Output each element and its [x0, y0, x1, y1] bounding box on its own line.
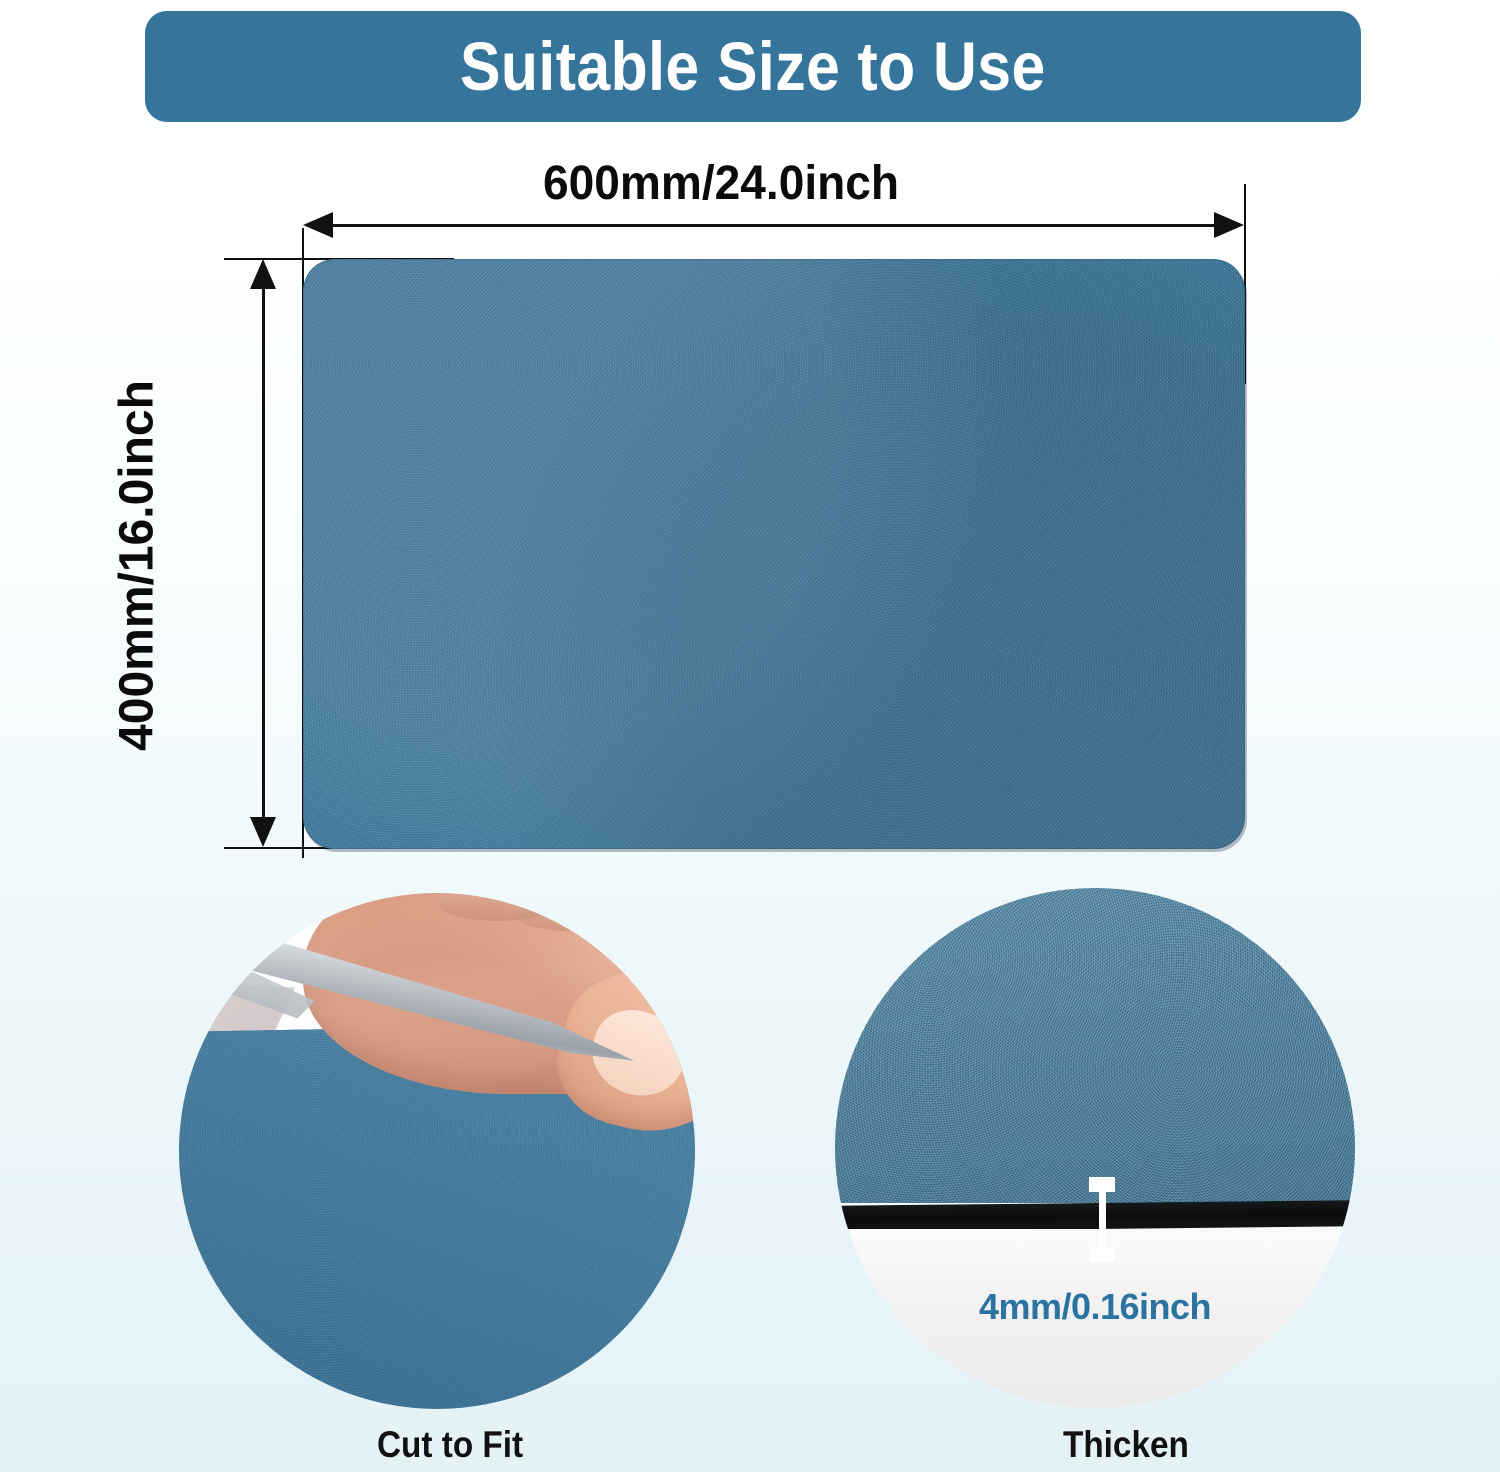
thickness-caliper-icon — [1089, 1177, 1115, 1263]
feature-photo-thicken: 4mm/0.16inch — [835, 888, 1355, 1408]
height-dimension-line — [262, 272, 265, 834]
page-title: Suitable Size to Use — [460, 27, 1046, 106]
arrow-up-icon — [250, 259, 276, 289]
caption-cut-to-fit: Cut to Fit — [377, 1424, 523, 1466]
width-label: 600mm/24.0inch — [543, 156, 899, 211]
finger-crease — [582, 896, 689, 936]
infographic-canvas: Suitable Size to Use 600mm/24.0inch 400m… — [0, 0, 1500, 1472]
width-dimension-line — [316, 224, 1236, 227]
product-mat-illustration — [303, 259, 1245, 849]
thickness-label: 4mm/0.16inch — [835, 1286, 1355, 1328]
mat-top-surface — [835, 888, 1355, 1203]
arrow-down-icon — [250, 817, 276, 847]
height-label: 400mm/16.0inch — [110, 306, 165, 826]
arrow-left-icon — [303, 212, 333, 238]
caliper-bottom-cap — [1089, 1247, 1115, 1262]
caption-thicken: Thicken — [1063, 1424, 1189, 1466]
feature-photo-cut-to-fit — [179, 893, 695, 1409]
arrow-right-icon — [1214, 212, 1244, 238]
header-banner: Suitable Size to Use — [145, 11, 1361, 122]
